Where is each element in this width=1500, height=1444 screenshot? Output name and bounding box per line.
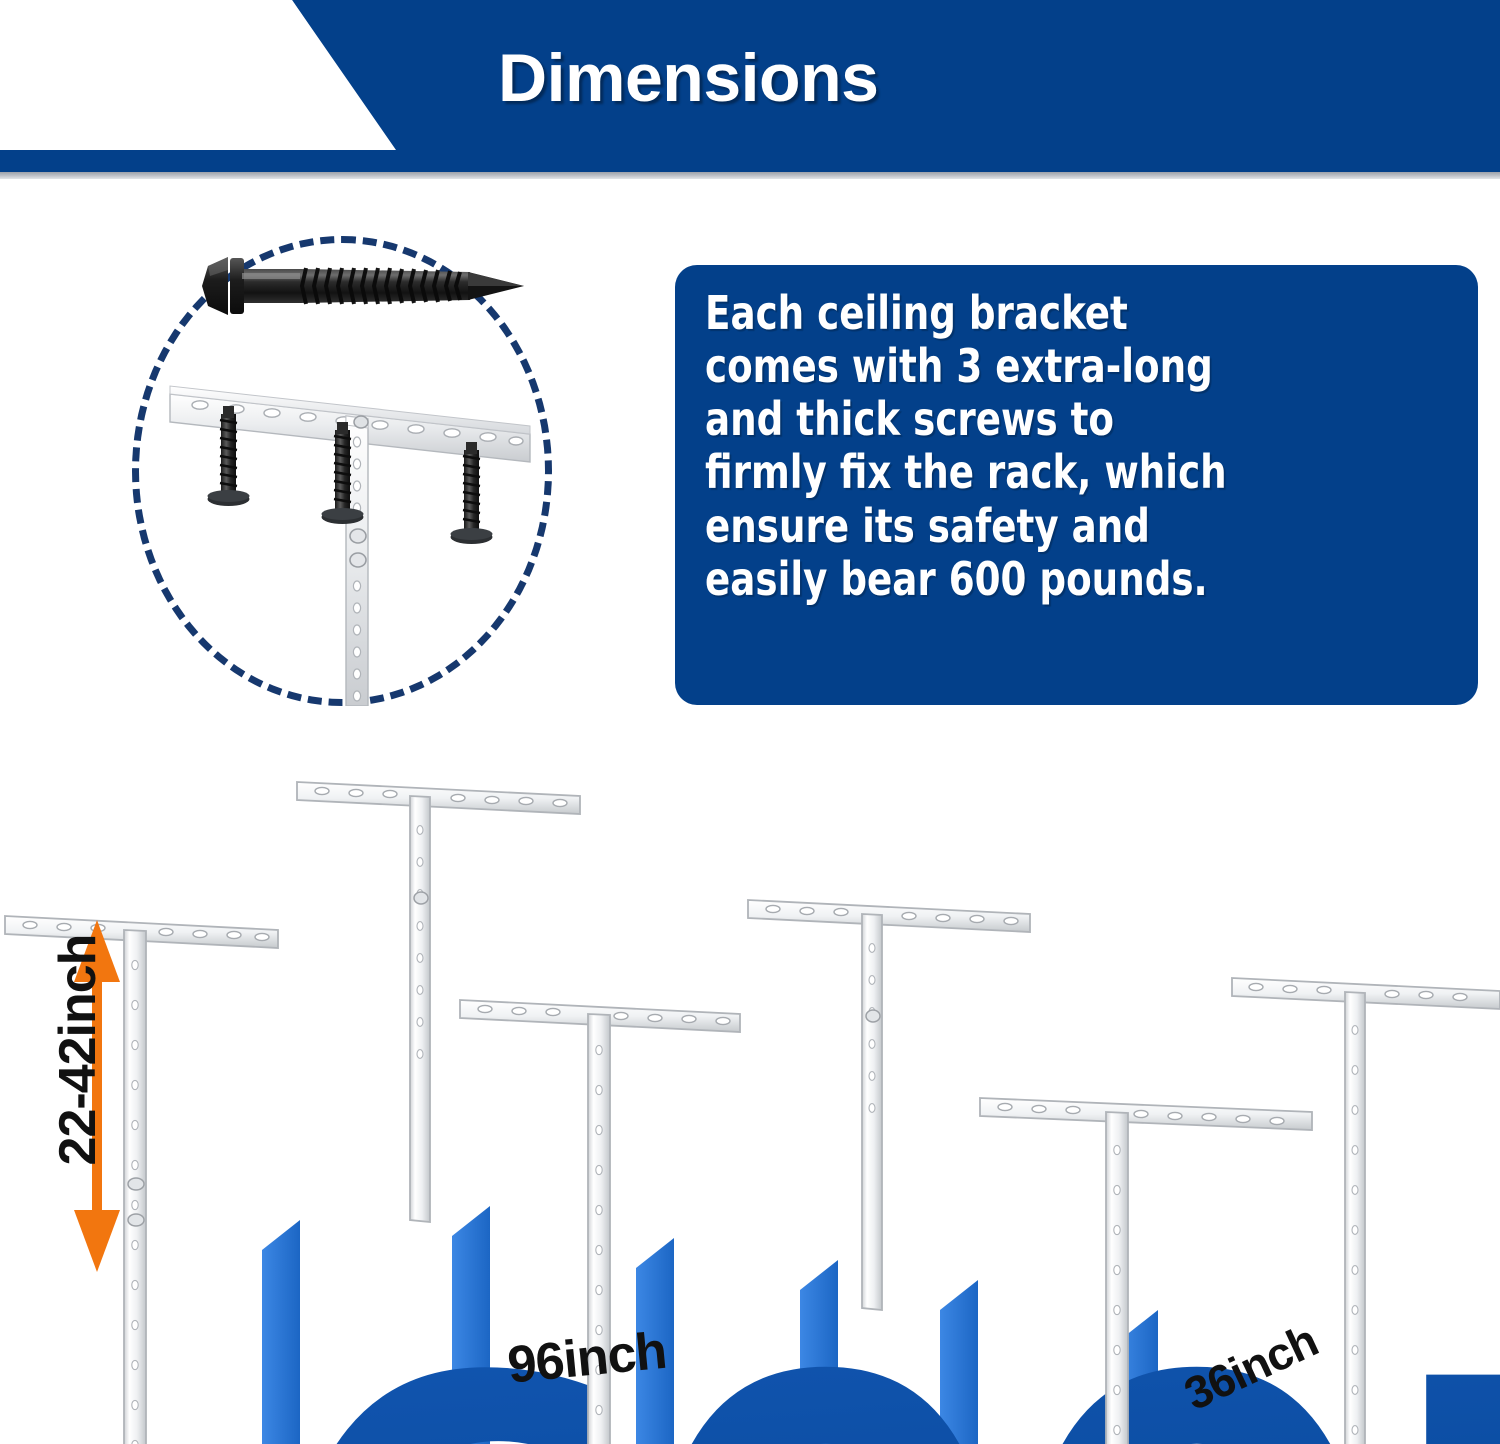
bracket-front-left — [5, 916, 278, 1444]
screw-threads — [300, 268, 524, 304]
page-title: Dimensions — [498, 44, 878, 112]
detail-callout — [132, 236, 552, 706]
header-bottom-bar — [0, 150, 1500, 172]
callout-illustration — [132, 236, 552, 706]
height-dimension-label: 22-42inch — [48, 920, 108, 1180]
feature-callout-text: Each ceiling bracket comes with 3 extra-… — [705, 287, 1377, 606]
infographic-canvas: Dimensions — [0, 0, 1500, 1444]
header-drop-shadow — [0, 172, 1500, 179]
hex-head-lag-screw-icon — [202, 257, 524, 315]
feature-callout-box: Each ceiling bracket comes with 3 extra-… — [675, 265, 1478, 705]
bracket-rear-left — [297, 782, 580, 1222]
header-banner: Dimensions — [0, 0, 1500, 180]
